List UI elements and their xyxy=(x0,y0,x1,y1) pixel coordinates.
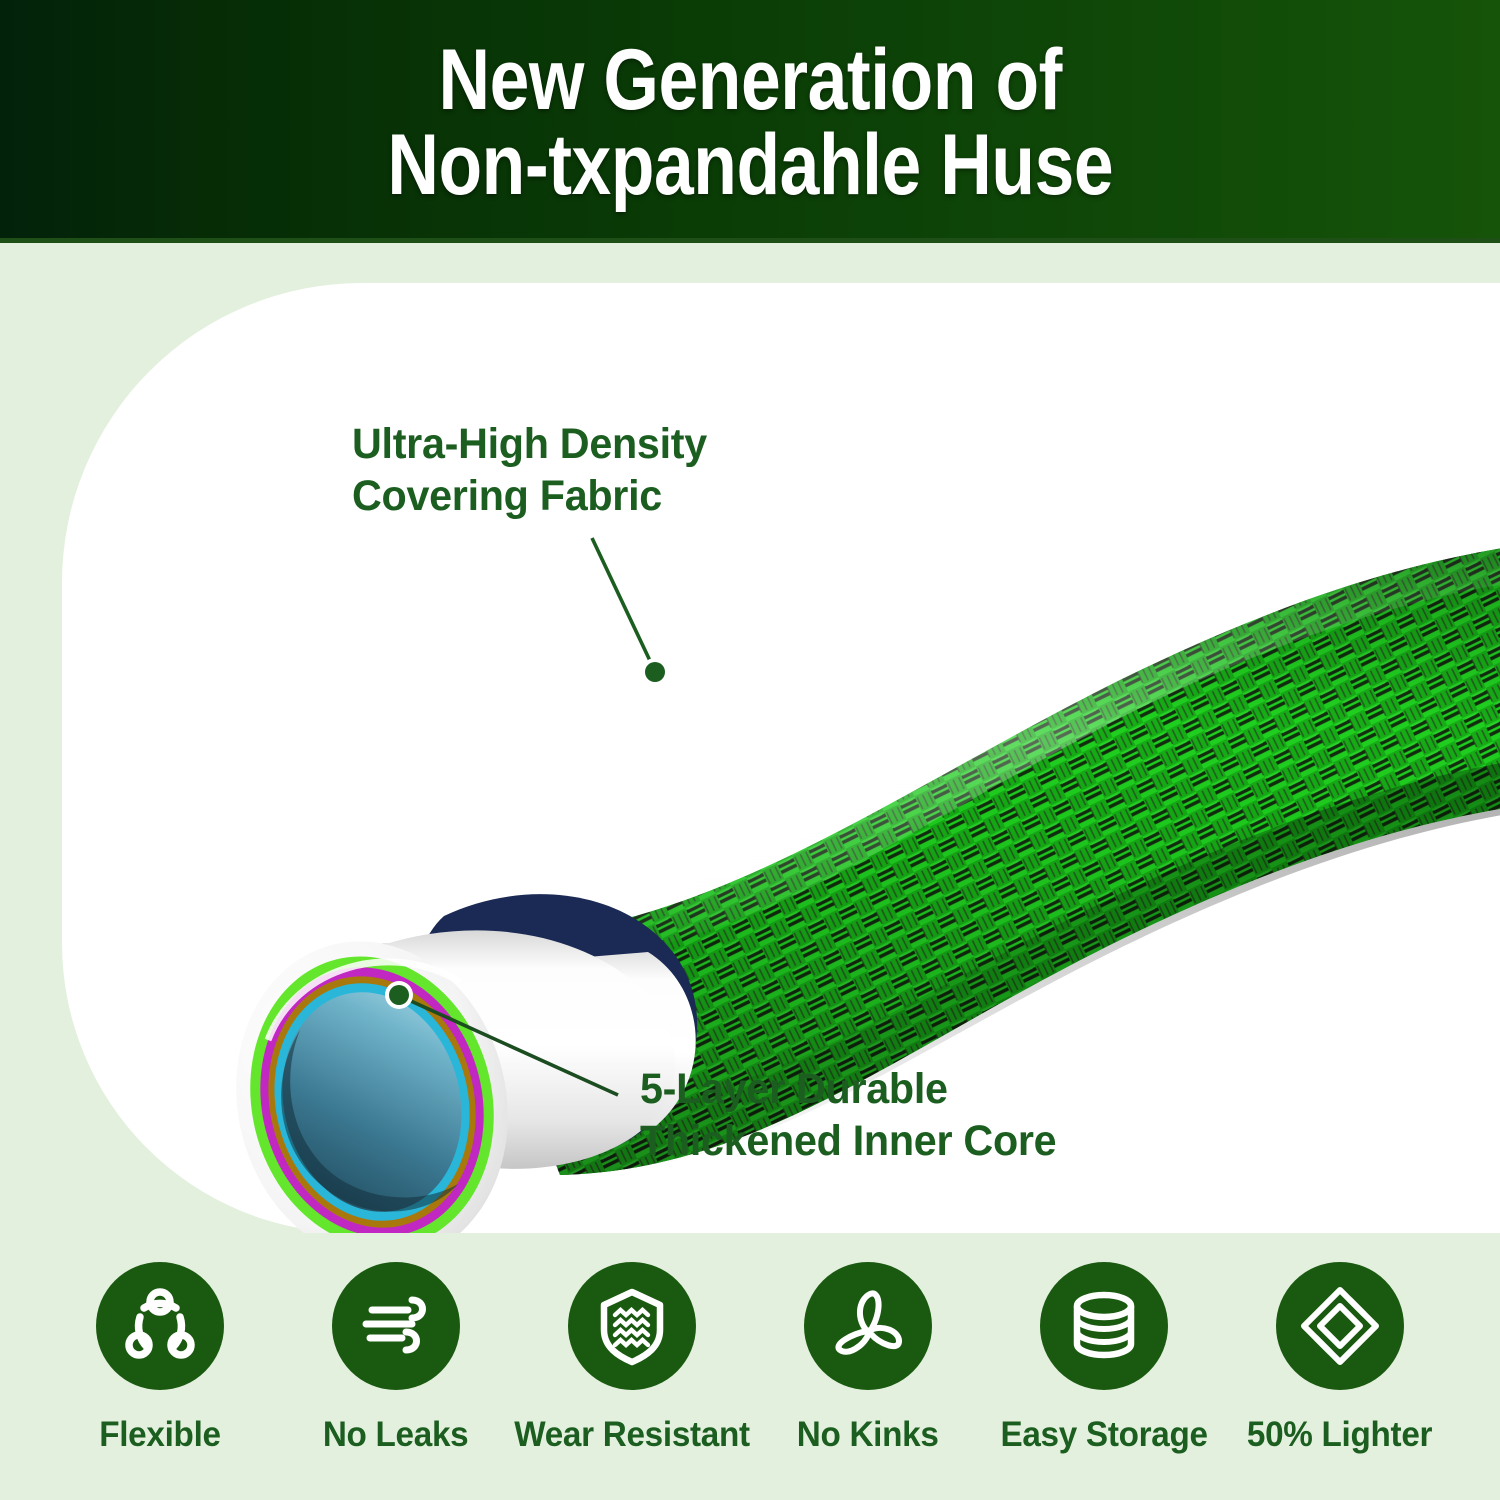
feature-item-no-leaks[interactable]: No Leaks xyxy=(296,1262,496,1455)
feature-item-no-kinks[interactable]: No Kinks xyxy=(768,1262,968,1455)
feature-item-flexible[interactable]: Flexible xyxy=(60,1262,260,1455)
trefoil-loop-icon xyxy=(826,1284,910,1368)
feature-label: No Kinks xyxy=(797,1415,939,1455)
feature-badge xyxy=(332,1262,460,1390)
header-banner: New Generation of Non-txpandahle Huse xyxy=(0,0,1500,240)
feature-label: Easy Storage xyxy=(1000,1415,1207,1455)
callout-label-inner-core: 5-Layer Durable Thickened Inner Core xyxy=(640,1063,1056,1168)
infographic-page: New Generation of Non-txpandahle Huse xyxy=(0,0,1500,1500)
flex-nodes-icon xyxy=(118,1284,202,1368)
feature-badge xyxy=(804,1262,932,1390)
feature-item-easy-storage[interactable]: Easy Storage xyxy=(1004,1262,1204,1455)
coil-stack-icon xyxy=(1062,1284,1146,1368)
feature-badge xyxy=(96,1262,224,1390)
callout-label-covering-fabric: Ultra-High Density Covering Fabric xyxy=(352,418,707,523)
wind-flow-icon xyxy=(354,1284,438,1368)
page-title: New Generation of Non-txpandahle Huse xyxy=(387,32,1113,208)
feature-label: 50% Lighter xyxy=(1247,1415,1432,1455)
diamond-layers-icon xyxy=(1298,1284,1382,1368)
feature-badge xyxy=(568,1262,696,1390)
feature-item-50-lighter[interactable]: 50% Lighter xyxy=(1240,1262,1440,1455)
feature-label: Flexible xyxy=(99,1415,221,1455)
feature-badge xyxy=(1040,1262,1168,1390)
feature-strip: Flexible No Leaks xyxy=(0,1262,1500,1500)
feature-label: No Leaks xyxy=(323,1415,469,1455)
header-divider xyxy=(0,238,1500,243)
feature-item-wear-resistant[interactable]: Wear Resistant xyxy=(532,1262,732,1455)
shield-waves-icon xyxy=(590,1284,674,1368)
feature-label: Wear Resistant xyxy=(514,1415,750,1455)
feature-badge xyxy=(1276,1262,1404,1390)
